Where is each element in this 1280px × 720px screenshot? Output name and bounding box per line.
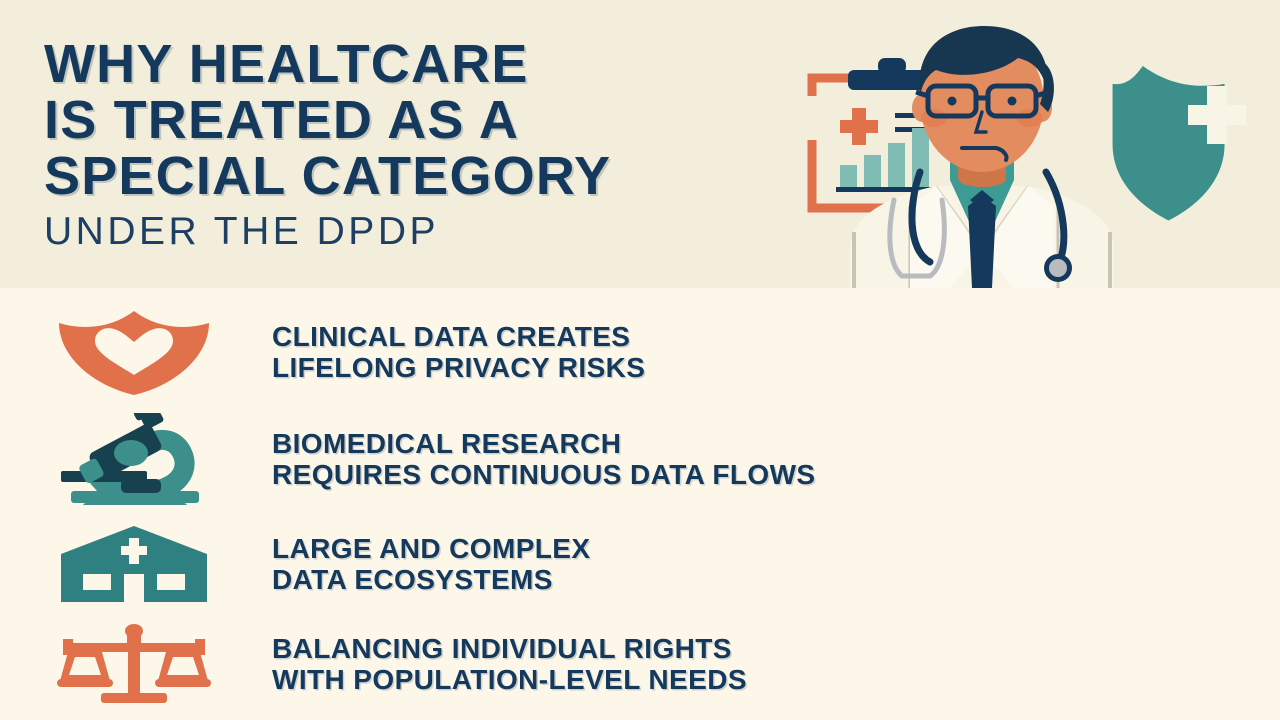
list-item-line: BALANCING INDIVIDUAL RIGHTS — [272, 633, 747, 664]
list-item-text: LARGE AND COMPLEX DATA ECOSYSTEMS — [222, 533, 590, 595]
points-list: CLINICAL DATA CREATES LIFELONG PRIVACY R… — [0, 288, 1280, 720]
list-item-line: LIFELONG PRIVACY RISKS — [272, 352, 645, 383]
header-band: WHY HEALTCARE IS TREATED AS A SPECIAL CA… — [0, 0, 1280, 288]
page-title-line-1: WHY HEALTCARE — [44, 36, 844, 92]
list-item-line: CLINICAL DATA CREATES — [272, 321, 645, 352]
infographic-page: WHY HEALTCARE IS TREATED AS A SPECIAL CA… — [0, 0, 1280, 720]
list-item: BALANCING INDIVIDUAL RIGHTS WITH POPULAT… — [46, 618, 1246, 710]
list-item-line: WITH POPULATION-LEVEL NEEDS — [272, 664, 747, 695]
microscope-icon — [46, 411, 222, 507]
list-item-text: BIOMEDICAL RESEARCH REQUIRES CONTINUOUS … — [222, 428, 815, 490]
page-title-line-3: SPECIAL CATEGORY — [44, 148, 844, 204]
list-item-line: REQUIRES CONTINUOUS DATA FLOWS — [272, 459, 815, 490]
list-item: BIOMEDICAL RESEARCH REQUIRES CONTINUOUS … — [46, 411, 1246, 507]
page-title-line-2: IS TREATED AS A — [44, 92, 844, 148]
hospital-icon — [46, 516, 222, 612]
list-item: LARGE AND COMPLEX DATA ECOSYSTEMS — [46, 516, 1246, 612]
list-item-line: LARGE AND COMPLEX — [272, 533, 590, 564]
list-item-text: CLINICAL DATA CREATES LIFELONG PRIVACY R… — [222, 321, 645, 383]
shield-heart-icon — [46, 304, 222, 400]
balance-scales-icon — [46, 616, 222, 712]
list-item: CLINICAL DATA CREATES LIFELONG PRIVACY R… — [46, 304, 1246, 400]
list-item-text: BALANCING INDIVIDUAL RIGHTS WITH POPULAT… — [222, 633, 747, 695]
doctor-illustration — [790, 0, 1280, 288]
header-text-block: WHY HEALTCARE IS TREATED AS A SPECIAL CA… — [44, 36, 844, 256]
page-subtitle: UNDER THE DPDP — [44, 208, 844, 256]
list-item-line: BIOMEDICAL RESEARCH — [272, 428, 815, 459]
list-item-line: DATA ECOSYSTEMS — [272, 564, 590, 595]
